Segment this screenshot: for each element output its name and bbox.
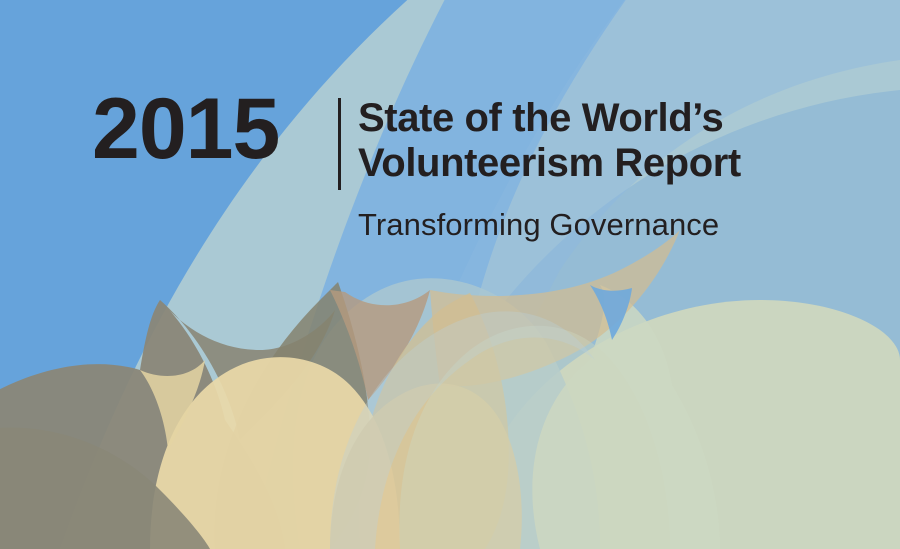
title-divider-rule [338, 98, 341, 190]
page-title-line-2: Volunteerism Report [358, 141, 878, 186]
page-subtitle: Transforming Governance [358, 208, 719, 242]
title-block: 2015 State of the World’s Volunteerism R… [0, 0, 900, 290]
cover-year: 2015 [92, 86, 279, 172]
report-cover: 2015 State of the World’s Volunteerism R… [0, 0, 900, 549]
page-title-line-1: State of the World’s [358, 96, 878, 141]
page-title: State of the World’s Volunteerism Report [358, 96, 878, 186]
